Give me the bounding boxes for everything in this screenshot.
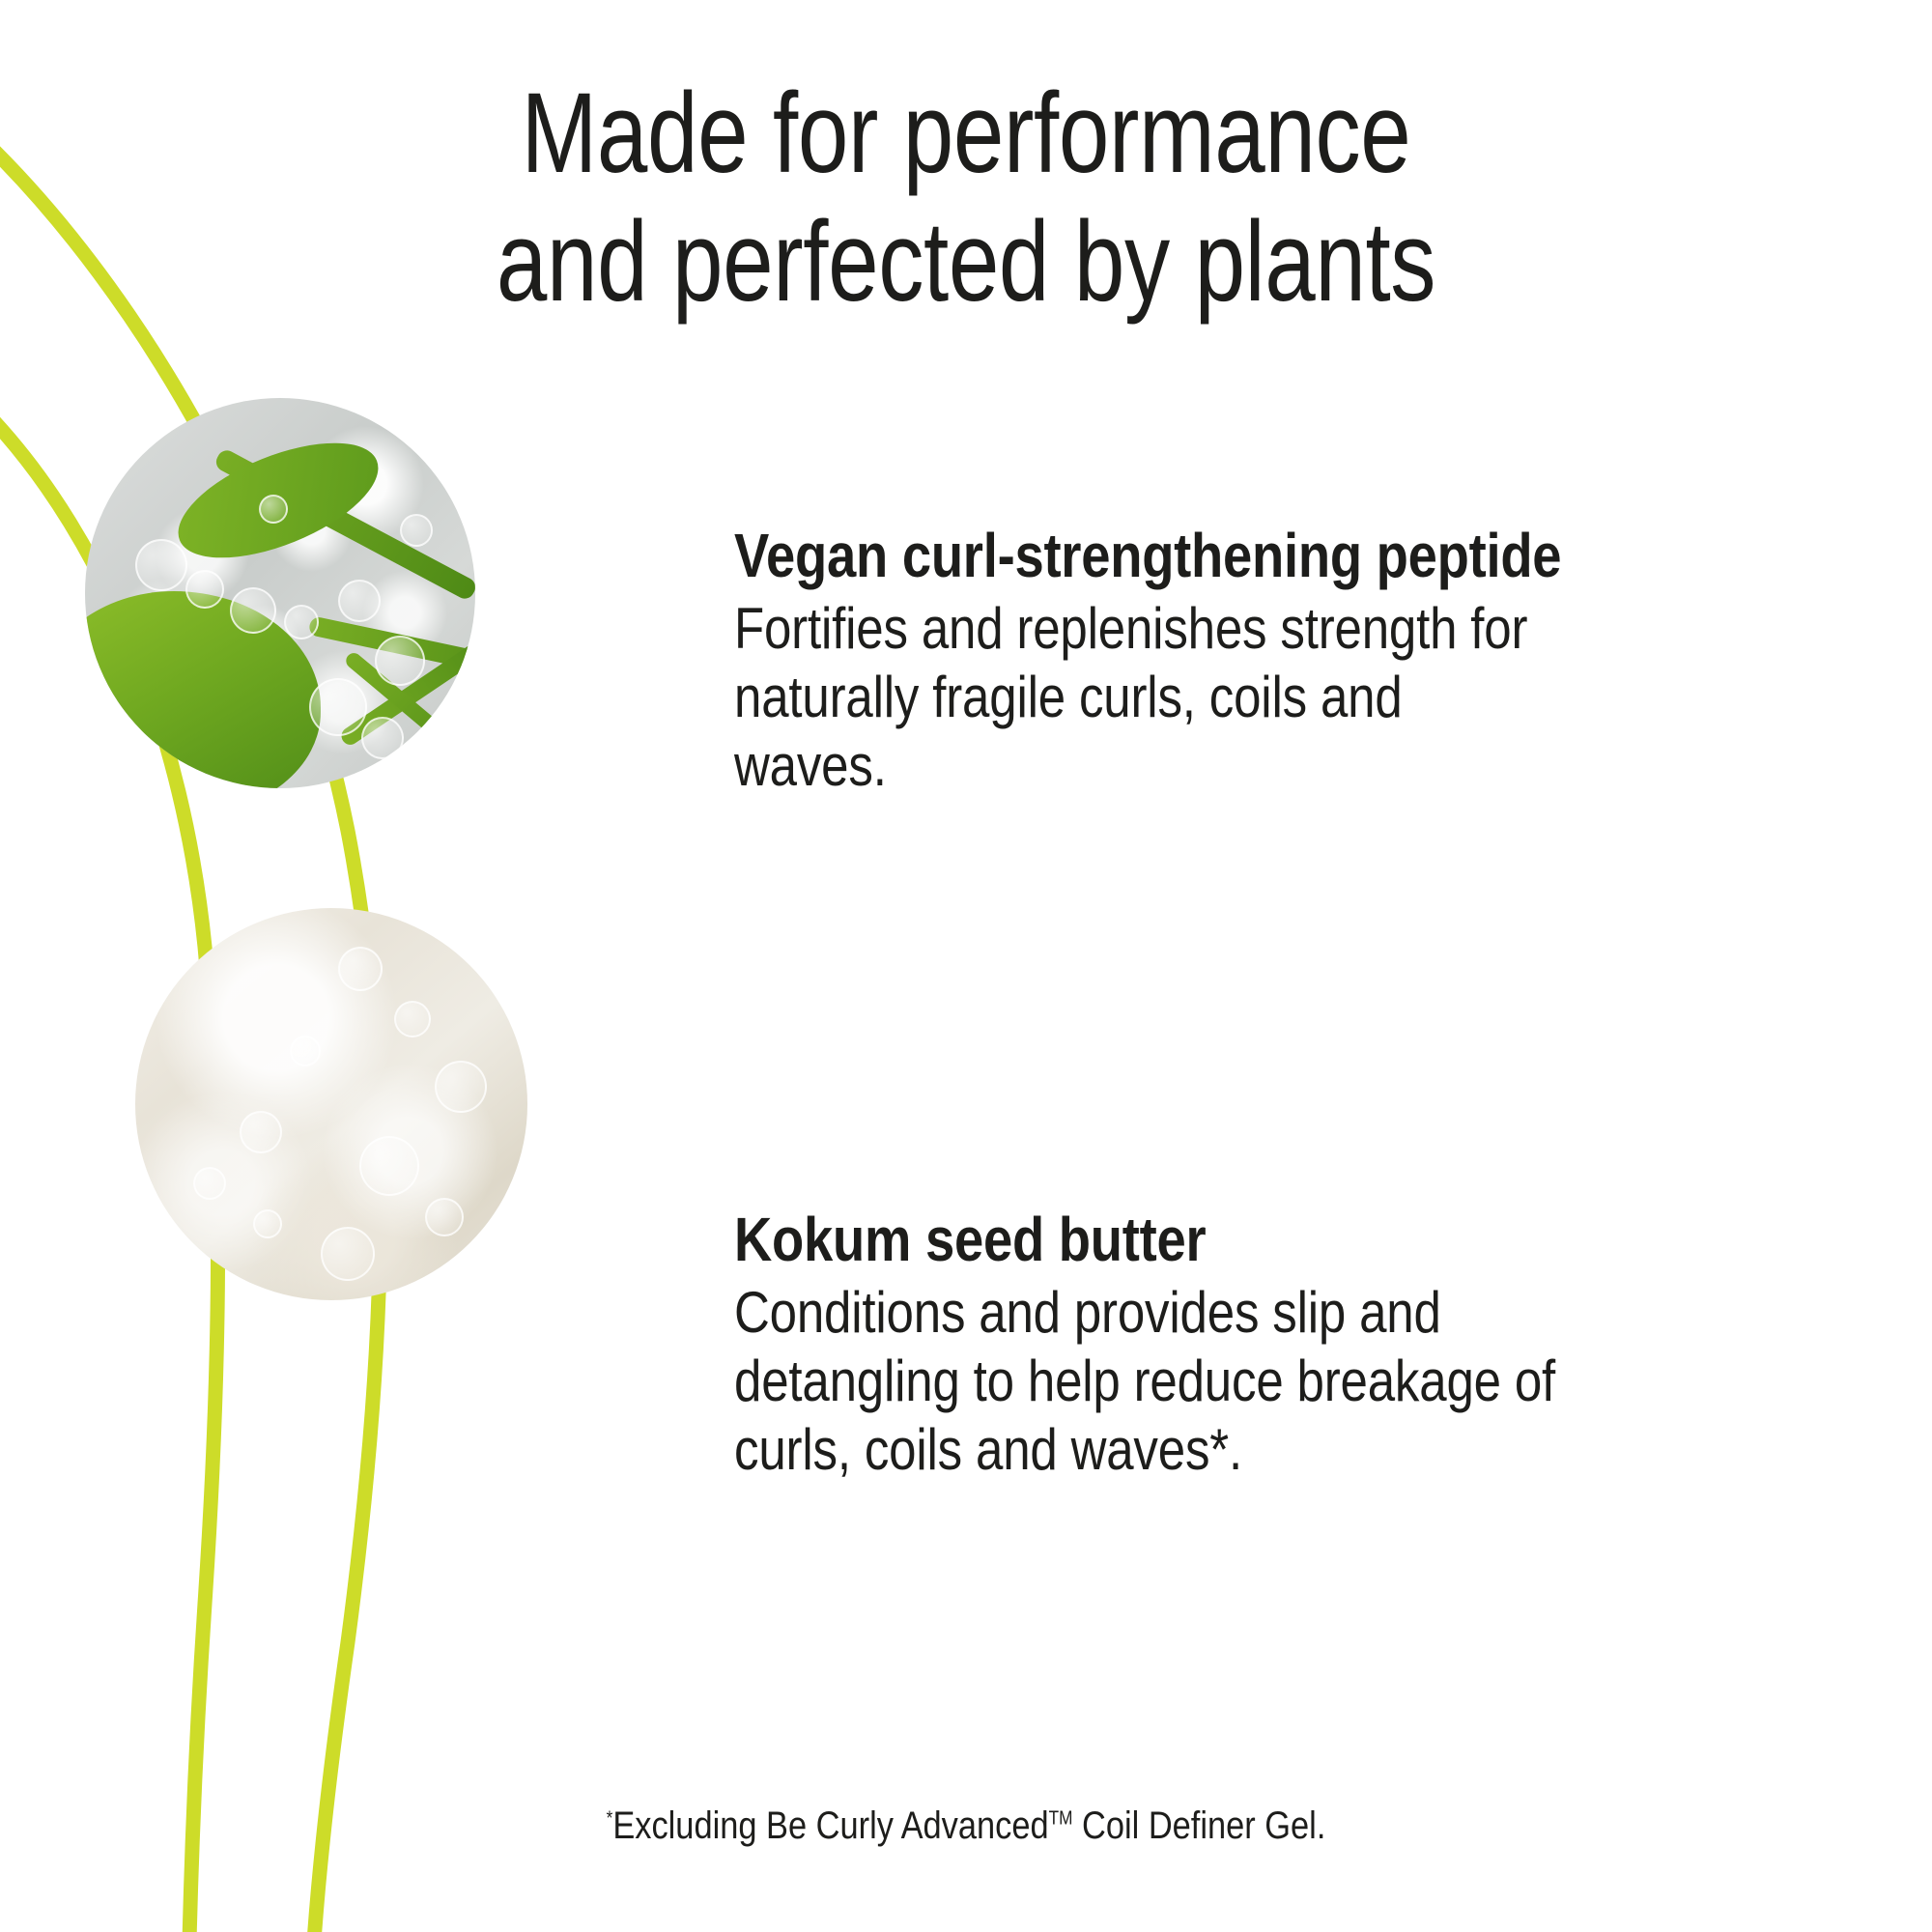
ingredient-image-kokum-seed-butter bbox=[135, 908, 527, 1300]
butter-bubble-icon bbox=[435, 1061, 487, 1113]
footnote-text-before: Excluding Be Curly Advanced bbox=[612, 1804, 1048, 1847]
ingredient-heading: Vegan curl-strengthening peptide bbox=[734, 522, 1564, 589]
footnote: *Excluding Be Curly AdvancedTM Coil Defi… bbox=[0, 1803, 1932, 1849]
gel-bubble-icon bbox=[135, 539, 187, 591]
ingredient-block-vegan-peptide: Vegan curl-strengthening peptide Fortifi… bbox=[734, 522, 1710, 801]
gel-bubble-icon bbox=[185, 570, 224, 609]
gel-bubble-icon bbox=[375, 636, 425, 686]
butter-bubble-icon bbox=[425, 1198, 464, 1236]
trademark-symbol: TM bbox=[1049, 1808, 1073, 1830]
gel-bubble-icon bbox=[259, 495, 288, 524]
headline-line-1: Made for performance bbox=[193, 70, 1739, 198]
footnote-marker: * bbox=[607, 1808, 613, 1830]
ingredient-infographic: { "headline": { "line1": "Made for perfo… bbox=[0, 0, 1932, 1932]
gel-bubble-icon bbox=[400, 514, 433, 547]
butter-bubble-icon bbox=[321, 1227, 375, 1281]
ingredient-body: Fortifies and replenishes strength for n… bbox=[734, 595, 1564, 800]
ingredient-image-vegan-peptide bbox=[85, 398, 475, 788]
butter-bubble-icon bbox=[359, 1136, 419, 1196]
butter-bubble-icon bbox=[394, 1001, 431, 1037]
footnote-text-after: Coil Definer Gel. bbox=[1072, 1804, 1325, 1847]
gel-bubble-icon bbox=[230, 587, 276, 634]
butter-bubble-icon bbox=[193, 1167, 226, 1200]
gel-bubble-icon bbox=[309, 678, 367, 736]
page-headline: Made for performance and perfected by pl… bbox=[0, 70, 1932, 327]
butter-bubble-icon bbox=[253, 1209, 282, 1238]
gel-bubble-icon bbox=[284, 605, 319, 639]
ingredient-body: Conditions and provides slip and detangl… bbox=[734, 1279, 1564, 1484]
butter-bubble-icon bbox=[240, 1111, 282, 1153]
headline-line-2: and perfected by plants bbox=[193, 198, 1739, 327]
butter-bubble-icon bbox=[290, 1036, 321, 1066]
ingredient-block-kokum-seed-butter: Kokum seed butter Conditions and provide… bbox=[734, 1206, 1710, 1485]
butter-bubble-icon bbox=[338, 947, 383, 991]
gel-bubble-icon bbox=[361, 717, 404, 759]
ingredient-heading: Kokum seed butter bbox=[734, 1206, 1564, 1273]
gel-bubble-icon bbox=[338, 580, 381, 622]
